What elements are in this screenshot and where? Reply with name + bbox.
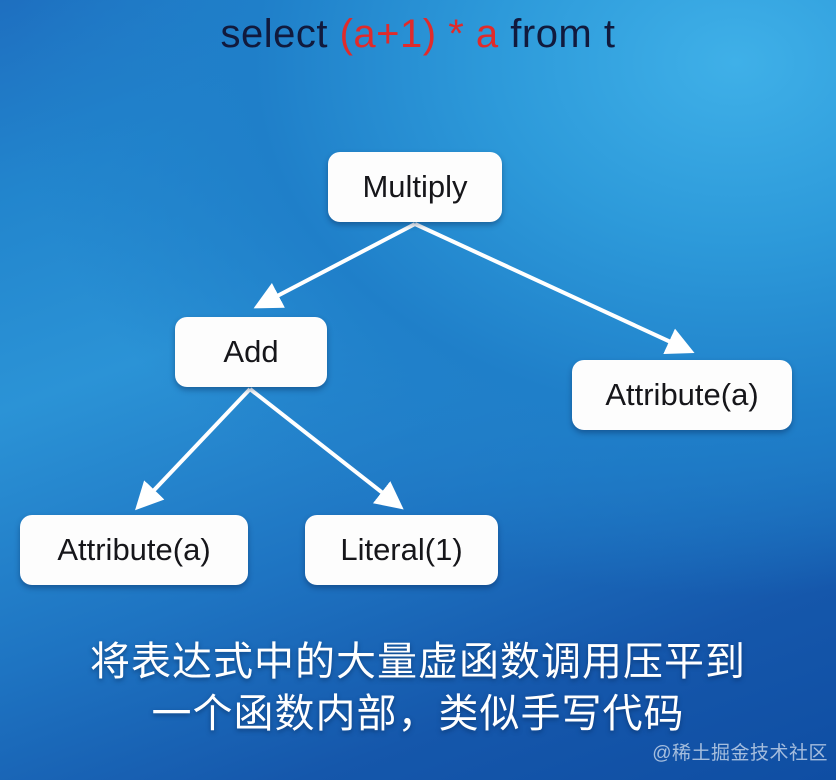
tree-node-add[interactable]: Add [175,317,327,387]
slide-root: select (a+1) * a from t Multiply Add Att… [0,0,836,780]
tree-node-label: Literal(1) [340,532,462,568]
sql-keyword-from: from t [499,12,616,56]
edge-multiply-to-attribute-right [415,224,688,350]
tree-node-attribute-right[interactable]: Attribute(a) [572,360,792,430]
sql-expression-highlight: (a+1) * a [340,12,499,56]
caption-line-2: 一个函数内部，类似手写代码 [0,688,836,740]
caption-block: 将表达式中的大量虚函数调用压平到 一个函数内部，类似手写代码 [0,636,836,740]
edge-multiply-to-add [260,224,415,305]
sql-keyword-select: select [221,12,340,56]
edge-add-to-literal [250,389,398,505]
tree-node-label: Add [223,334,278,370]
watermark: @稀土掘金技术社区 [652,738,828,765]
edge-add-to-attribute-left [140,389,250,505]
caption-line-1: 将表达式中的大量虚函数调用压平到 [0,636,836,688]
sql-expression-title: select (a+1) * a from t [0,12,836,57]
tree-node-literal[interactable]: Literal(1) [305,515,498,585]
tree-node-label: Attribute(a) [605,377,758,413]
tree-node-label: Multiply [362,169,467,205]
tree-node-attribute-left[interactable]: Attribute(a) [20,515,248,585]
tree-node-multiply[interactable]: Multiply [328,152,502,222]
tree-node-label: Attribute(a) [57,532,210,568]
